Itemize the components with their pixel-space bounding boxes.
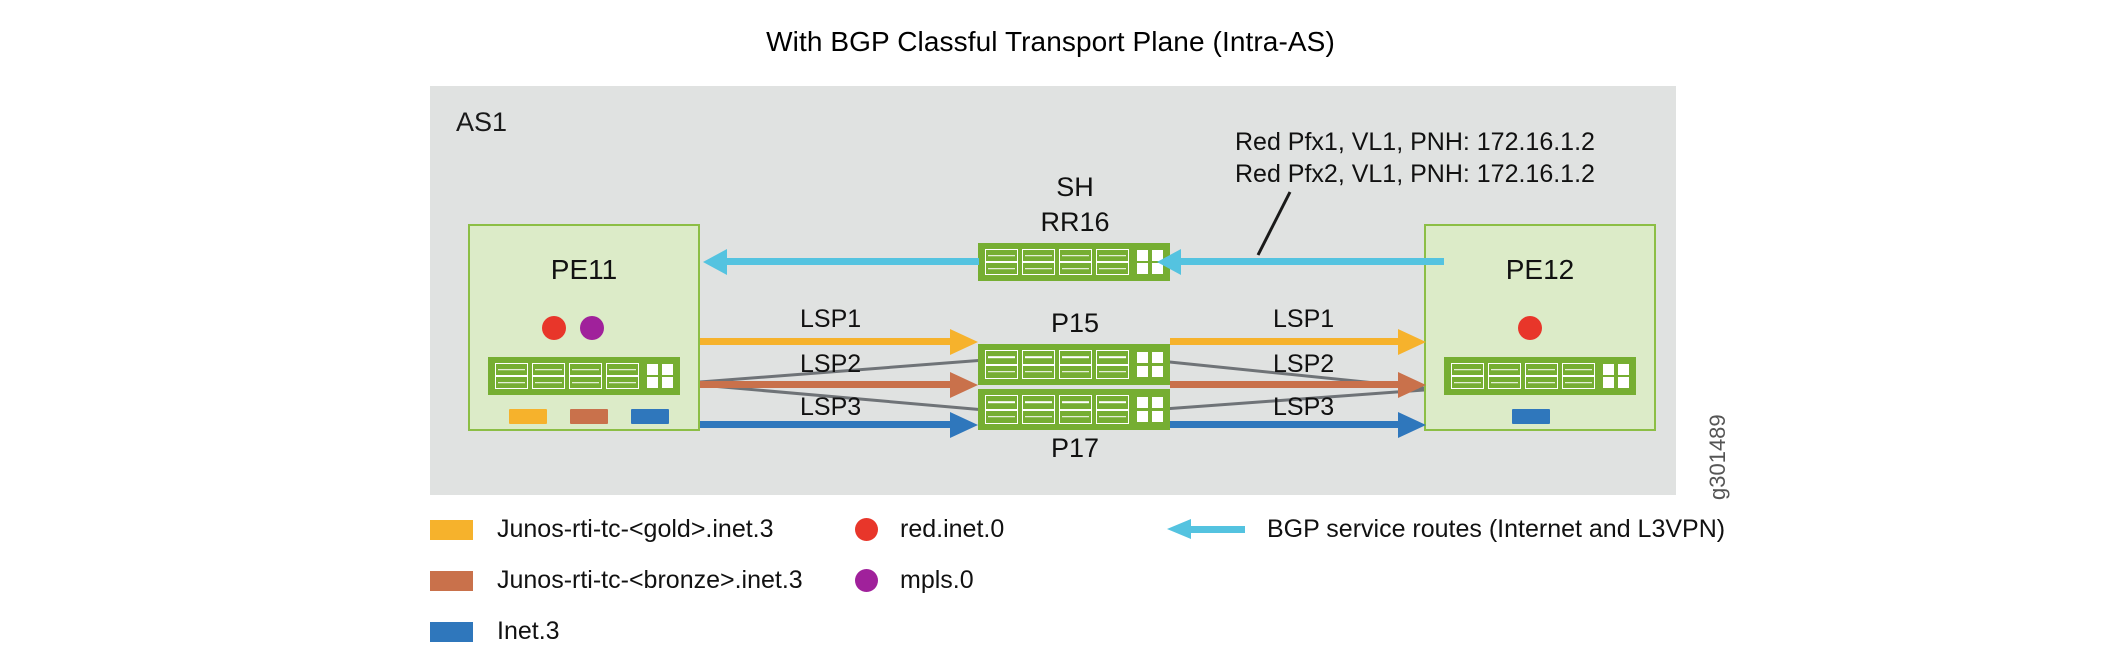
pe11-gold-table-chip [509,409,547,424]
legend-gold-swatch [430,520,473,540]
lsp1-label-right: LSP1 [1273,305,1334,334]
lsp3-link-right [1170,421,1398,428]
node-pe12[interactable]: PE12 [1424,224,1656,431]
p17-label: P17 [1015,433,1135,464]
pe11-red-inet0-dot [542,316,566,340]
pe11-inet3-table-chip [631,409,669,424]
lsp2-arrowhead-left [950,372,978,398]
lsp3-link-left [700,421,950,428]
lsp2-link-right [1170,381,1398,388]
annotation-line-2: Red Pfx2, VL1, PNH: 172.16.1.2 [1235,158,1595,190]
pe12-router-icon [1444,357,1636,395]
legend-inet3-label: Inet.3 [497,617,560,646]
legend-gold-label: Junos-rti-tc-<gold>.inet.3 [497,515,774,544]
pe11-router-icon [488,357,680,395]
lsp2-arrowhead-right [1398,372,1426,398]
legend-item-red-inet0: red.inet.0 [855,515,1004,544]
legend-inet3-swatch [430,622,473,642]
as1-label: AS1 [456,107,507,138]
bgp-service-arrowhead-right [1157,249,1181,275]
lsp2-label-right: LSP2 [1273,350,1334,379]
legend-bgp-service-arrow [1167,518,1245,542]
lsp3-arrowhead-left [950,412,978,438]
bgp-service-link-right [1180,258,1444,265]
legend-mpls0-dot [855,569,878,592]
bgp-prefix-annotation: Red Pfx1, VL1, PNH: 172.16.1.2 Red Pfx2,… [1235,126,1595,190]
figure-title: With BGP Classful Transport Plane (Intra… [0,26,2101,58]
legend-item-gold: Junos-rti-tc-<gold>.inet.3 [430,515,774,544]
legend-bronze-label: Junos-rti-tc-<bronze>.inet.3 [497,566,803,595]
lsp1-link-right [1170,338,1398,345]
pe12-red-inet0-dot [1518,316,1542,340]
pe11-bronze-table-chip [570,409,608,424]
lsp3-arrowhead-right [1398,412,1426,438]
diagram-canvas: With BGP Classful Transport Plane (Intra… [0,0,2101,661]
bgp-service-link-left [727,258,979,265]
annotation-line-1: Red Pfx1, VL1, PNH: 172.16.1.2 [1235,126,1595,158]
legend-bronze-swatch [430,571,473,591]
lsp1-arrowhead-left [950,329,978,355]
legend-item-inet3: Inet.3 [430,617,560,646]
lsp3-label-left: LSP3 [800,393,861,422]
lsp2-label-left: LSP2 [800,350,861,379]
pe11-mpls0-dot [580,316,604,340]
pe11-label: PE11 [470,254,698,286]
lsp1-link-left [700,338,950,345]
rr16-label-sh: SH [1015,172,1135,203]
p15-router-icon [978,344,1170,385]
bgp-service-arrowhead-left [703,249,727,275]
rr16-router-icon [978,243,1170,281]
lsp1-label-left: LSP1 [800,305,861,334]
legend-item-bronze: Junos-rti-tc-<bronze>.inet.3 [430,566,803,595]
p15-label: P15 [1015,308,1135,339]
legend-red-inet0-label: red.inet.0 [900,515,1004,544]
rr16-label-name: RR16 [1015,207,1135,238]
legend-mpls0-label: mpls.0 [900,566,974,595]
pe12-inet3-table-chip [1512,409,1550,424]
lsp3-label-right: LSP3 [1273,393,1334,422]
lsp1-arrowhead-right [1398,329,1426,355]
pe12-label: PE12 [1426,254,1654,286]
p17-router-icon [978,389,1170,430]
figure-id-label: g301489 [1705,414,1731,500]
legend-item-bgp-service: BGP service routes (Internet and L3VPN) [1167,515,1725,544]
lsp2-link-left [700,381,950,388]
node-pe11[interactable]: PE11 [468,224,700,431]
legend-bgp-service-label: BGP service routes (Internet and L3VPN) [1267,515,1725,544]
legend-red-inet0-dot [855,518,878,541]
legend-item-mpls0: mpls.0 [855,566,974,595]
